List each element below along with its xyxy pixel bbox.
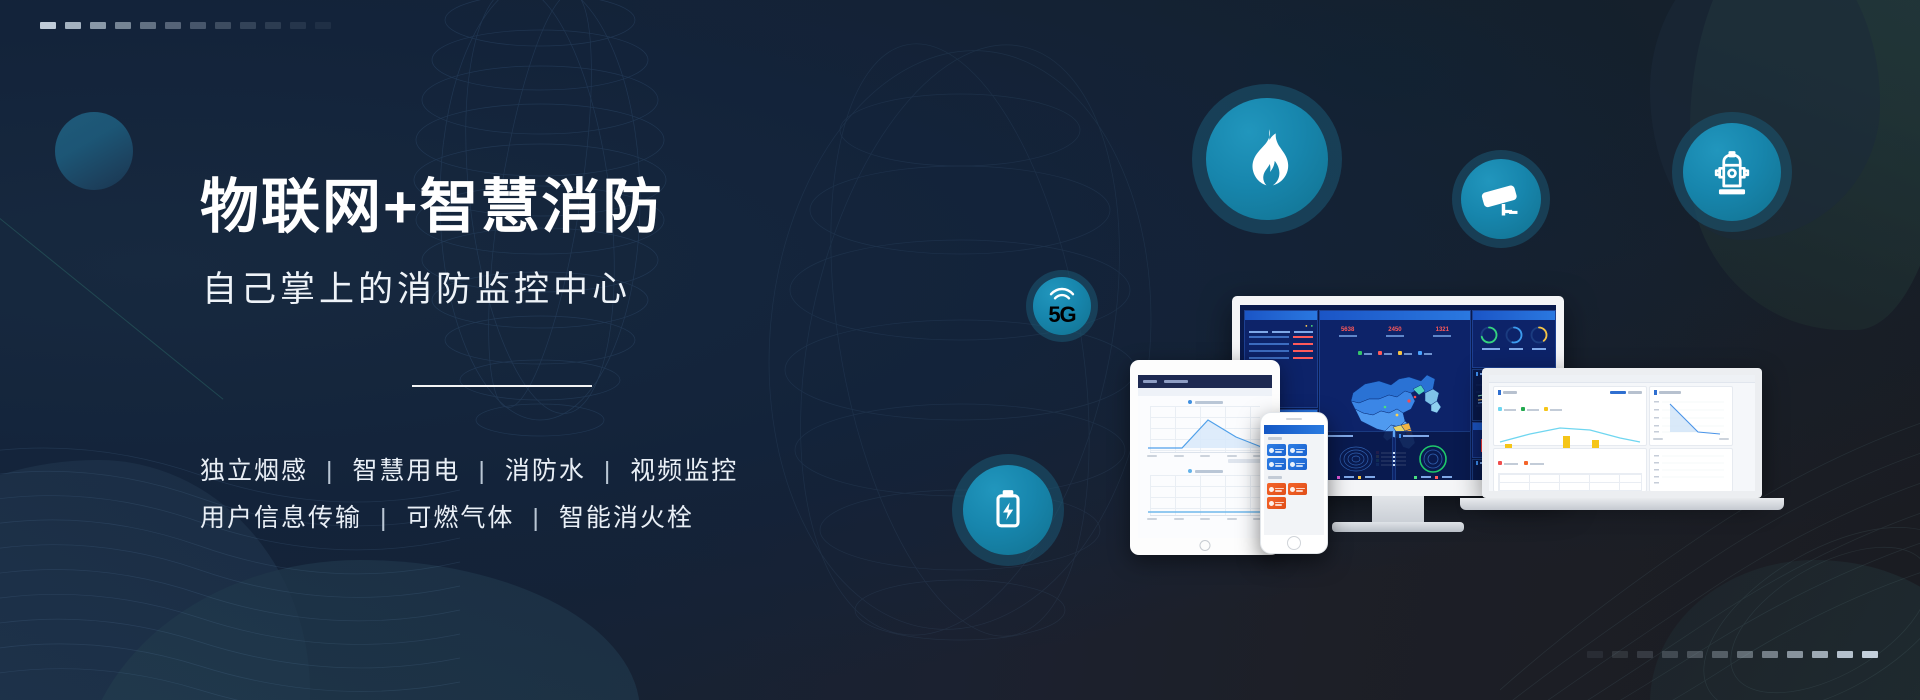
battery-icon <box>983 485 1033 535</box>
hydrant-icon <box>1706 146 1758 198</box>
page-title: 物联网+智慧消防 <box>200 178 663 237</box>
background-decoration <box>0 0 1920 700</box>
feature-list: 独立烟感 | 智慧用电 | 消防水 | 视频监控 用户信息传输 | 可燃气体 |… <box>200 448 738 542</box>
kpi-value: 1321 <box>1433 327 1451 337</box>
dashboard-card-radar-left <box>1319 431 1393 480</box>
radar-chart <box>1336 440 1376 476</box>
feature-row: 独立烟感 | 智慧用电 | 消防水 | 视频监控 <box>200 448 738 495</box>
tablet-header <box>1138 375 1272 388</box>
laptop-card-area <box>1649 386 1733 446</box>
camera-icon-badge <box>1452 150 1550 248</box>
laptop-base <box>1460 498 1784 510</box>
progress-ring <box>1529 325 1549 345</box>
laptop-card-table <box>1493 448 1647 491</box>
legend-item <box>1418 342 1432 360</box>
card-title <box>1494 449 1646 473</box>
status-tile[interactable] <box>1288 444 1307 456</box>
laptop-card-chart-small <box>1649 448 1733 491</box>
legend-item <box>1524 452 1544 470</box>
feature-item: 消防水 <box>505 457 586 485</box>
feature-separator: | <box>317 457 344 485</box>
tablet-subheader <box>1138 388 1272 396</box>
feature-separator: | <box>469 457 496 485</box>
5g-label: 5G <box>1048 304 1075 326</box>
tablet-home-button[interactable] <box>1200 540 1211 551</box>
card-header <box>1245 311 1317 320</box>
feature-item: 智慧用电 <box>352 457 460 485</box>
legend-item <box>1398 342 1412 360</box>
card-header <box>1473 311 1555 320</box>
feature-item: 独立烟感 <box>200 457 308 485</box>
dashboard-card-progress-rings <box>1472 310 1556 368</box>
section-label <box>1268 476 1282 479</box>
x-axis-labels <box>1144 455 1266 457</box>
alarm-tile[interactable] <box>1267 483 1286 495</box>
area-line-chart <box>1144 406 1270 452</box>
phone-dashboard <box>1260 412 1328 554</box>
diagonal-accent-line-left <box>0 210 223 400</box>
flat-line-chart <box>1144 475 1270 515</box>
gauge-chart <box>1413 440 1453 476</box>
feature-separator: | <box>595 457 622 485</box>
laptop-dashboard <box>1482 368 1762 498</box>
divider <box>412 385 592 387</box>
feature-row: 用户信息传输 | 可燃气体 | 智能消火栓 <box>200 495 738 542</box>
phone-home-button[interactable] <box>1287 536 1301 550</box>
laptop-card-bar-line <box>1493 386 1647 446</box>
card-header <box>1320 311 1470 320</box>
status-tile[interactable] <box>1267 458 1286 470</box>
alarm-tile[interactable] <box>1267 497 1286 509</box>
alarm-tile[interactable] <box>1288 483 1307 495</box>
area-chart <box>1652 398 1726 438</box>
mesh-pattern-center <box>700 10 1220 670</box>
hero-banner: 物联网+智慧消防 自己掌上的消防监控中心 独立烟感 | 智慧用电 | 消防水 |… <box>0 0 1920 700</box>
x-axis-labels <box>1650 438 1732 440</box>
x-axis-labels <box>1144 518 1266 520</box>
legend-item <box>1378 342 1392 360</box>
mini-chart <box>1652 452 1726 486</box>
monitor-stand-base <box>1332 522 1464 532</box>
decorative-circle-top-left <box>55 112 133 190</box>
tablet-dashboard <box>1130 360 1280 555</box>
monitor-stand-neck <box>1372 496 1424 524</box>
status-tile[interactable] <box>1288 458 1307 470</box>
5g-icon-badge: 5G <box>1026 270 1098 342</box>
feature-separator: | <box>523 504 550 532</box>
decorative-blob-bottom-right <box>1650 560 1920 700</box>
decorative-dashes-bottom-right <box>1587 651 1878 658</box>
progress-ring <box>1479 325 1499 345</box>
kpi-value: 2450 <box>1386 327 1404 337</box>
section-label <box>1268 437 1282 440</box>
legend-item <box>1521 398 1539 416</box>
decorative-dashes-top-left <box>40 22 331 29</box>
tile-group-orange <box>1264 480 1324 512</box>
camera-icon <box>1478 176 1524 222</box>
legend-item <box>1358 342 1372 360</box>
chart-title <box>1138 396 1272 406</box>
phone-screen <box>1264 425 1324 535</box>
fire-icon-badge <box>1192 84 1342 234</box>
phone-header <box>1264 425 1324 434</box>
feature-item: 视频监控 <box>630 457 738 485</box>
tile-group-blue <box>1264 441 1324 473</box>
dashboard-card-gauge-right <box>1395 431 1471 480</box>
legend-item <box>1544 398 1562 416</box>
feature-separator: | <box>371 504 398 532</box>
feature-item: 智能消火栓 <box>559 504 694 532</box>
legend-item <box>1498 452 1518 470</box>
feature-item: 用户信息传输 <box>200 504 362 532</box>
mesh-pattern-left <box>330 0 750 520</box>
chart-title <box>1138 465 1272 475</box>
hydrant-icon-badge <box>1672 112 1792 232</box>
wifi-icon <box>1048 287 1076 302</box>
fire-icon <box>1234 126 1300 192</box>
progress-ring <box>1504 325 1524 345</box>
feature-item: 可燃气体 <box>406 504 514 532</box>
phone-speaker <box>1286 418 1302 420</box>
laptop-screen <box>1489 375 1755 491</box>
card-title <box>1650 387 1732 398</box>
card-title <box>1494 387 1646 398</box>
legend-item <box>1498 398 1516 416</box>
decorative-blob-bottom-left-b <box>80 560 640 700</box>
battery-icon-badge <box>952 454 1064 566</box>
tablet-screen <box>1138 375 1272 538</box>
status-tile[interactable] <box>1267 444 1286 456</box>
kpi-value: 5638 <box>1339 327 1357 337</box>
page-subtitle: 自己掌上的消防监控中心 <box>202 272 631 307</box>
